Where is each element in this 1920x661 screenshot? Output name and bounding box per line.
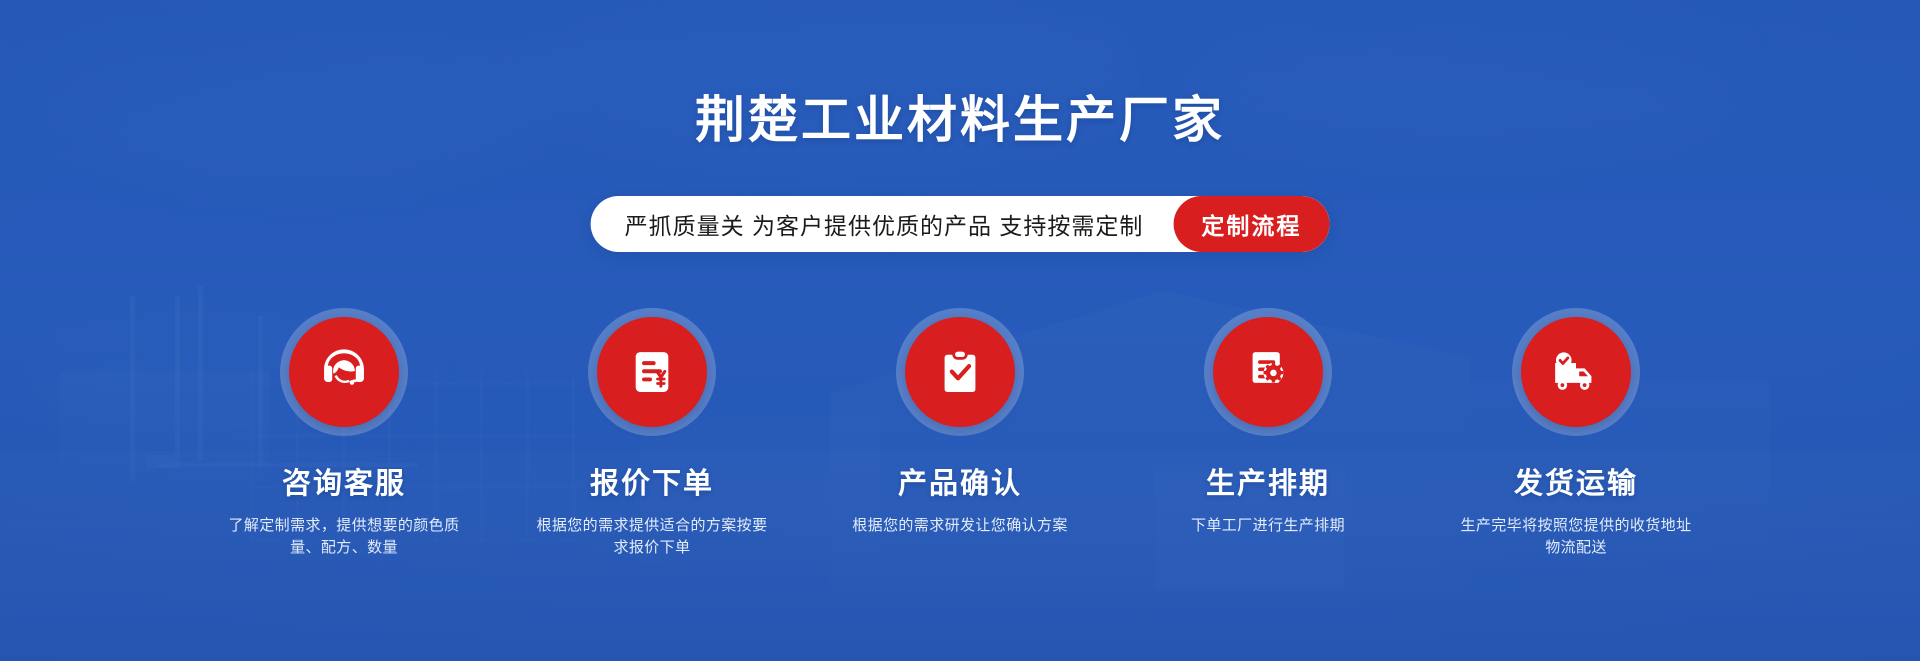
step-item-consult[interactable]: 咨询客服 了解定制需求，提供想要的颜色质量、配方、数量: [219, 308, 469, 559]
step-badge[interactable]: [588, 308, 716, 436]
promo-banner: 荆楚工业材料生产厂家 严抓质量关 为客户提供优质的产品 支持按需定制 定制流程: [0, 0, 1920, 661]
step-badge[interactable]: [280, 308, 408, 436]
page-title: 荆楚工业材料生产厂家: [0, 92, 1920, 150]
headset-support-icon: [289, 317, 399, 427]
step-title: 产品确认: [898, 460, 1022, 502]
slogan-pill: 严抓质量关 为客户提供优质的产品 支持按需定制 定制流程: [591, 196, 1330, 252]
step-description: 了解定制需求，提供想要的颜色质量、配方、数量: [224, 515, 464, 559]
step-item-shipping[interactable]: 发货运输 生产完毕将按照您提供的收货地址物流配送: [1451, 308, 1701, 559]
step-description: 生产完毕将按照您提供的收货地址物流配送: [1456, 515, 1696, 559]
step-description: 根据您的需求研发让您确认方案: [852, 515, 1068, 537]
document-gear-icon: [1213, 317, 1323, 427]
slogan-text: 严抓质量关 为客户提供优质的产品 支持按需定制: [591, 196, 1174, 252]
step-item-confirm[interactable]: 产品确认 根据您的需求研发让您确认方案: [835, 308, 1085, 537]
step-title: 生产排期: [1206, 460, 1330, 502]
step-badge[interactable]: [896, 308, 1024, 436]
step-description: 下单工厂进行生产排期: [1191, 515, 1345, 537]
process-steps: 咨询客服 了解定制需求，提供想要的颜色质量、配方、数量: [0, 308, 1920, 559]
step-title: 发货运输: [1514, 460, 1638, 502]
step-description: 根据您的需求提供适合的方案按要求报价下单: [532, 515, 772, 559]
step-title: 报价下单: [590, 460, 714, 502]
step-badge[interactable]: [1204, 308, 1332, 436]
invoice-yuan-icon: [597, 317, 707, 427]
step-badge[interactable]: [1512, 308, 1640, 436]
clipboard-check-icon: [905, 317, 1015, 427]
custom-process-button[interactable]: 定制流程: [1173, 196, 1329, 252]
step-item-quote[interactable]: 报价下单 根据您的需求提供适合的方案按要求报价下单: [527, 308, 777, 559]
step-item-schedule[interactable]: 生产排期 下单工厂进行生产排期: [1143, 308, 1393, 537]
step-title: 咨询客服: [282, 460, 406, 502]
delivery-truck-check-icon: [1521, 317, 1631, 427]
